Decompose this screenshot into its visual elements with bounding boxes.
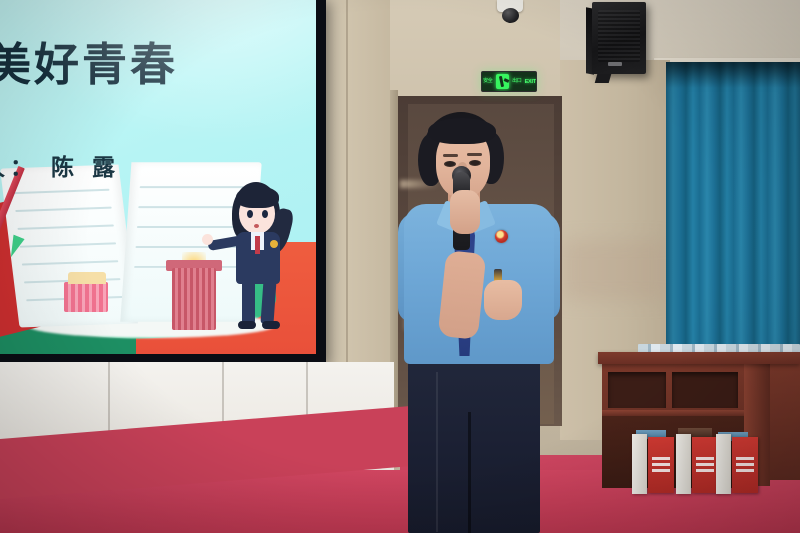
desk-cubby (672, 372, 738, 408)
white-book (716, 434, 731, 494)
loudspeaker-grille (598, 10, 640, 62)
slide-cartoon-badge (270, 240, 278, 248)
desk-top-surface (598, 352, 800, 364)
dome-security-camera-icon (502, 8, 519, 23)
photo-scene: 安全 出口 EXIT (0, 0, 800, 533)
presenter-hand-holding-clicker (484, 280, 522, 320)
slide-cartoon-mouth (254, 224, 259, 228)
slide-title: 美好青春 (0, 28, 216, 93)
slide-cartoon-shoe (262, 321, 280, 329)
red-booklet (732, 437, 758, 493)
running-person-icon (496, 74, 509, 89)
white-book (632, 434, 647, 494)
exit-sign-chinese-right: 出口 (511, 79, 523, 84)
trouser-seam (468, 412, 471, 533)
slide-cartoon-hand (202, 234, 213, 245)
presenter-hand-holding-microphone (450, 190, 480, 234)
exit-sign-english: EXIT (525, 79, 536, 85)
desk-cubby (608, 372, 666, 408)
red-booklet (692, 437, 718, 493)
red-booklet (648, 437, 674, 493)
slide-cartoon-shoe (238, 321, 256, 329)
trouser-crease (436, 372, 438, 532)
slide-book-stack-top (68, 272, 106, 284)
projection-screen[interactable]: 美好青春 人： 陈 露 (0, 0, 316, 354)
slide-cartoon-leg (242, 280, 255, 324)
white-book (676, 434, 691, 494)
female-presenter (398, 112, 578, 533)
presenter-bangs (428, 118, 496, 144)
desk-shelf-edge (602, 410, 744, 416)
presenter-trousers (408, 348, 540, 533)
loudspeaker-logo (608, 62, 622, 66)
projection-screen-frame: 美好青春 人： 陈 露 (0, 0, 326, 364)
slide-cartoon-tie (255, 236, 260, 254)
exit-sign-chinese-left: 安全 (482, 79, 494, 84)
slide-podium (172, 268, 216, 330)
slide-subtitle: 人： 陈 露 (0, 148, 212, 182)
procuratorate-emblem-badge (495, 230, 508, 243)
curtain-top-shadow (666, 62, 800, 88)
emergency-exit-sign: 安全 出口 EXIT (481, 71, 537, 92)
slide-book-stack (64, 282, 108, 312)
slide-cartoon-bangs (236, 186, 279, 208)
loudspeaker-bracket (595, 74, 612, 83)
